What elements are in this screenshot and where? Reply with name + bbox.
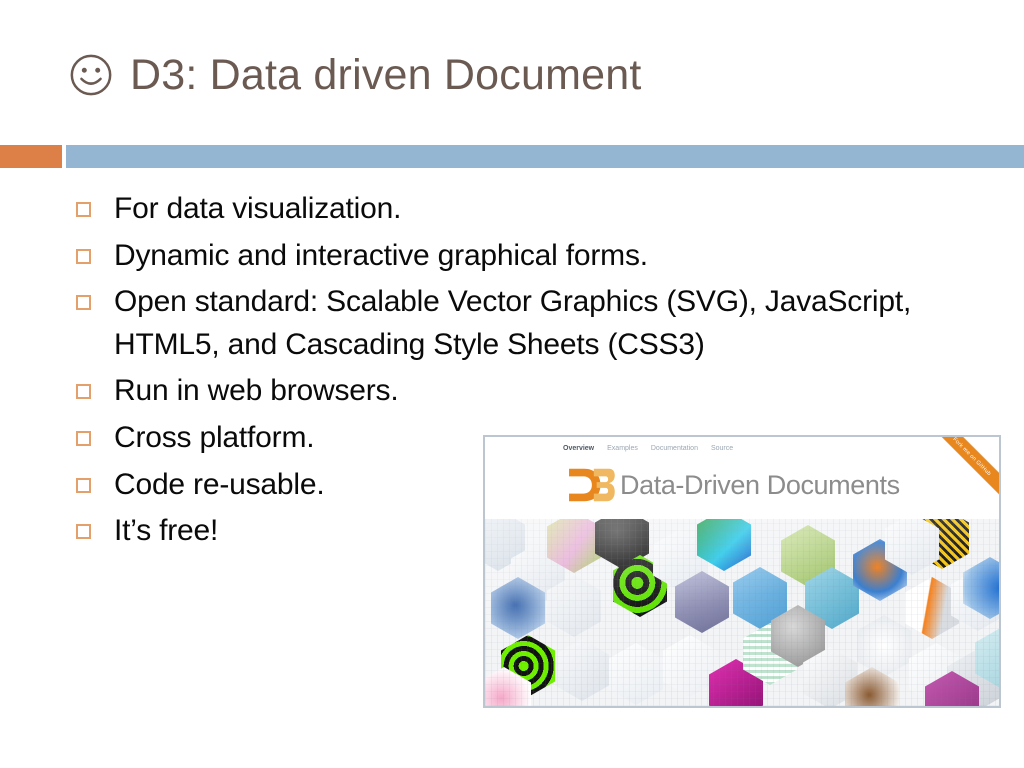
divider-bar-orange <box>0 145 62 168</box>
divider-bar-blue <box>66 145 1024 168</box>
d3-example-gallery <box>485 519 999 706</box>
d3-logo-row: Data-Driven Documents <box>565 465 900 505</box>
list-item-label: It’s free! <box>114 510 218 553</box>
square-bullet-icon <box>76 249 91 264</box>
page-title: D3: Data driven Document <box>68 52 641 98</box>
bullet-marker <box>76 188 114 217</box>
list-item-label: Run in web browsers. <box>114 370 398 413</box>
d3-website-screenshot: Overview Examples Documentation Source D… <box>483 435 1001 708</box>
bullet-marker <box>76 281 114 310</box>
bullet-marker <box>76 370 114 399</box>
list-item-label: Open standard: Scalable Vector Graphics … <box>114 281 956 366</box>
list-item-label: Cross platform. <box>114 417 314 460</box>
list-item-label: Code re-usable. <box>114 464 324 507</box>
square-bullet-icon <box>76 524 91 539</box>
d3-logo-icon <box>565 465 615 505</box>
page-title-text: D3: Data driven Document <box>130 54 641 97</box>
bullet-marker <box>76 235 114 264</box>
hex-tile-arcdiagram[interactable] <box>609 643 663 705</box>
list-item: Run in web browsers. <box>76 370 956 413</box>
hex-mosaic <box>485 519 999 706</box>
bullet-marker <box>76 417 114 446</box>
list-item: For data visualization. <box>76 188 956 231</box>
d3-nav: Overview Examples Documentation Source <box>563 445 733 452</box>
square-bullet-icon <box>76 295 91 310</box>
list-item-label: For data visualization. <box>114 188 401 231</box>
nav-link-documentation[interactable]: Documentation <box>651 445 698 452</box>
list-item: Dynamic and interactive graphical forms. <box>76 235 956 278</box>
bullet-marker <box>76 510 114 539</box>
hex-tile-network[interactable] <box>555 639 609 701</box>
list-item: Open standard: Scalable Vector Graphics … <box>76 281 956 366</box>
list-item-label: Dynamic and interactive graphical forms. <box>114 235 648 278</box>
slide-root: D3: Data driven Document For data visual… <box>0 0 1024 768</box>
square-bullet-icon <box>76 431 91 446</box>
bullet-marker <box>76 464 114 493</box>
square-bullet-icon <box>76 384 91 399</box>
square-bullet-icon <box>76 478 91 493</box>
nav-link-overview[interactable]: Overview <box>563 445 594 452</box>
d3-site-header: Overview Examples Documentation Source D… <box>485 437 999 519</box>
hex-tile-whitestar[interactable] <box>857 615 911 677</box>
nav-link-examples[interactable]: Examples <box>607 445 638 452</box>
nav-link-source[interactable]: Source <box>711 445 733 452</box>
smiley-face-icon <box>68 52 114 98</box>
square-bullet-icon <box>76 202 91 217</box>
fork-me-on-github-ribbon[interactable]: Fork me on GitHub <box>924 437 999 505</box>
hex-tile-chordlight[interactable] <box>663 635 717 697</box>
hex-tile-orangebar[interactable] <box>905 577 959 639</box>
d3-brand-text: Data-Driven Documents <box>620 470 900 501</box>
